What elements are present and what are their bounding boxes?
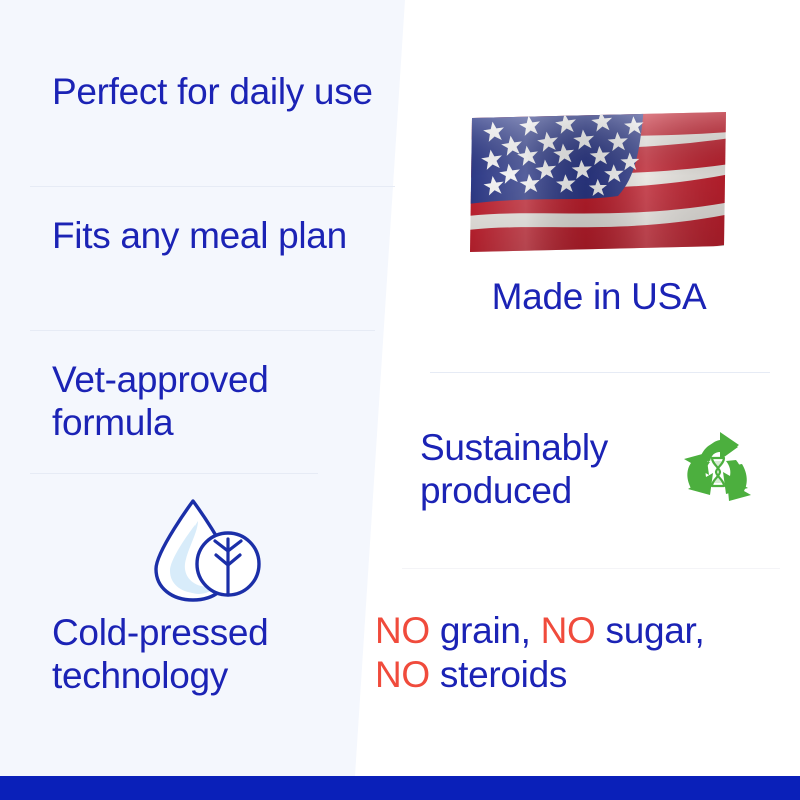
feature-perfect-for-daily-use: Perfect for daily use bbox=[52, 70, 397, 113]
recycle-icon bbox=[676, 430, 760, 514]
left-divider-3 bbox=[30, 473, 318, 474]
cold-pressed-droplet-icon bbox=[148, 495, 266, 605]
bottom-brand-bar bbox=[0, 776, 800, 800]
feature-vet-approved-formula: Vet-approved formula bbox=[52, 358, 382, 445]
right-divider-2 bbox=[402, 568, 780, 569]
infographic-canvas: Perfect for daily use Fits any meal plan… bbox=[0, 0, 800, 800]
steroids-text: steroids bbox=[430, 654, 567, 695]
right-divider-1 bbox=[430, 372, 770, 373]
left-divider-2 bbox=[30, 330, 375, 331]
left-divider-1 bbox=[30, 186, 395, 187]
sustainably-produced-label: Sustainably produced bbox=[420, 426, 670, 513]
no-sugar-prefix: NO bbox=[541, 610, 596, 651]
grain-text: grain, bbox=[430, 610, 541, 651]
us-flag-photo bbox=[468, 110, 730, 256]
made-in-usa-label: Made in USA bbox=[468, 276, 730, 319]
no-grain-prefix: NO bbox=[375, 610, 430, 651]
feature-fits-any-meal-plan: Fits any meal plan bbox=[52, 214, 397, 257]
feature-cold-pressed-technology: Cold-pressed technology bbox=[52, 611, 352, 698]
no-claims-text: NO grain, NO sugar,NO steroids bbox=[375, 609, 785, 698]
no-steroids-prefix: NO bbox=[375, 654, 430, 695]
sugar-text: sugar, bbox=[596, 610, 705, 651]
